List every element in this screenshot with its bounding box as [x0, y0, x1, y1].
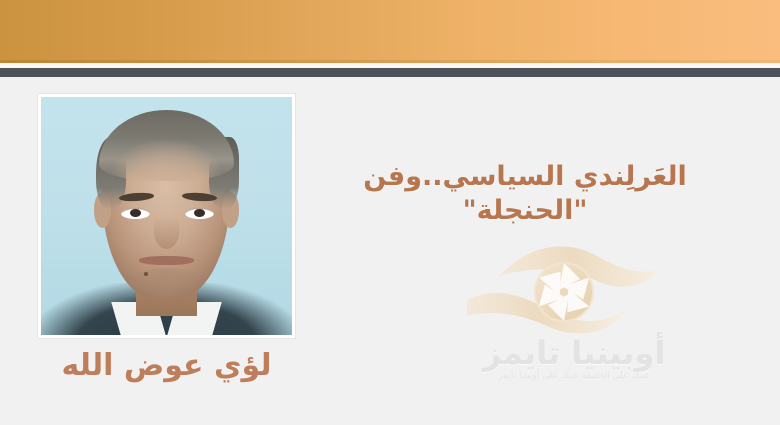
portrait-chin [126, 268, 206, 297]
portrait-mole [144, 272, 148, 276]
author-portrait [38, 94, 295, 338]
dark-divider-bar [0, 68, 780, 77]
author-portrait-image [41, 97, 292, 335]
article-headline: العَرلِندي السياسي..وفن "الحنجلة" [310, 160, 740, 228]
top-gradient-bar [0, 0, 780, 63]
article-banner: لؤي عوض الله العَرلِندي السياسي..وفن "ال… [0, 0, 780, 425]
portrait-mouth [139, 256, 194, 265]
author-name: لؤي عوض الله [38, 349, 295, 382]
